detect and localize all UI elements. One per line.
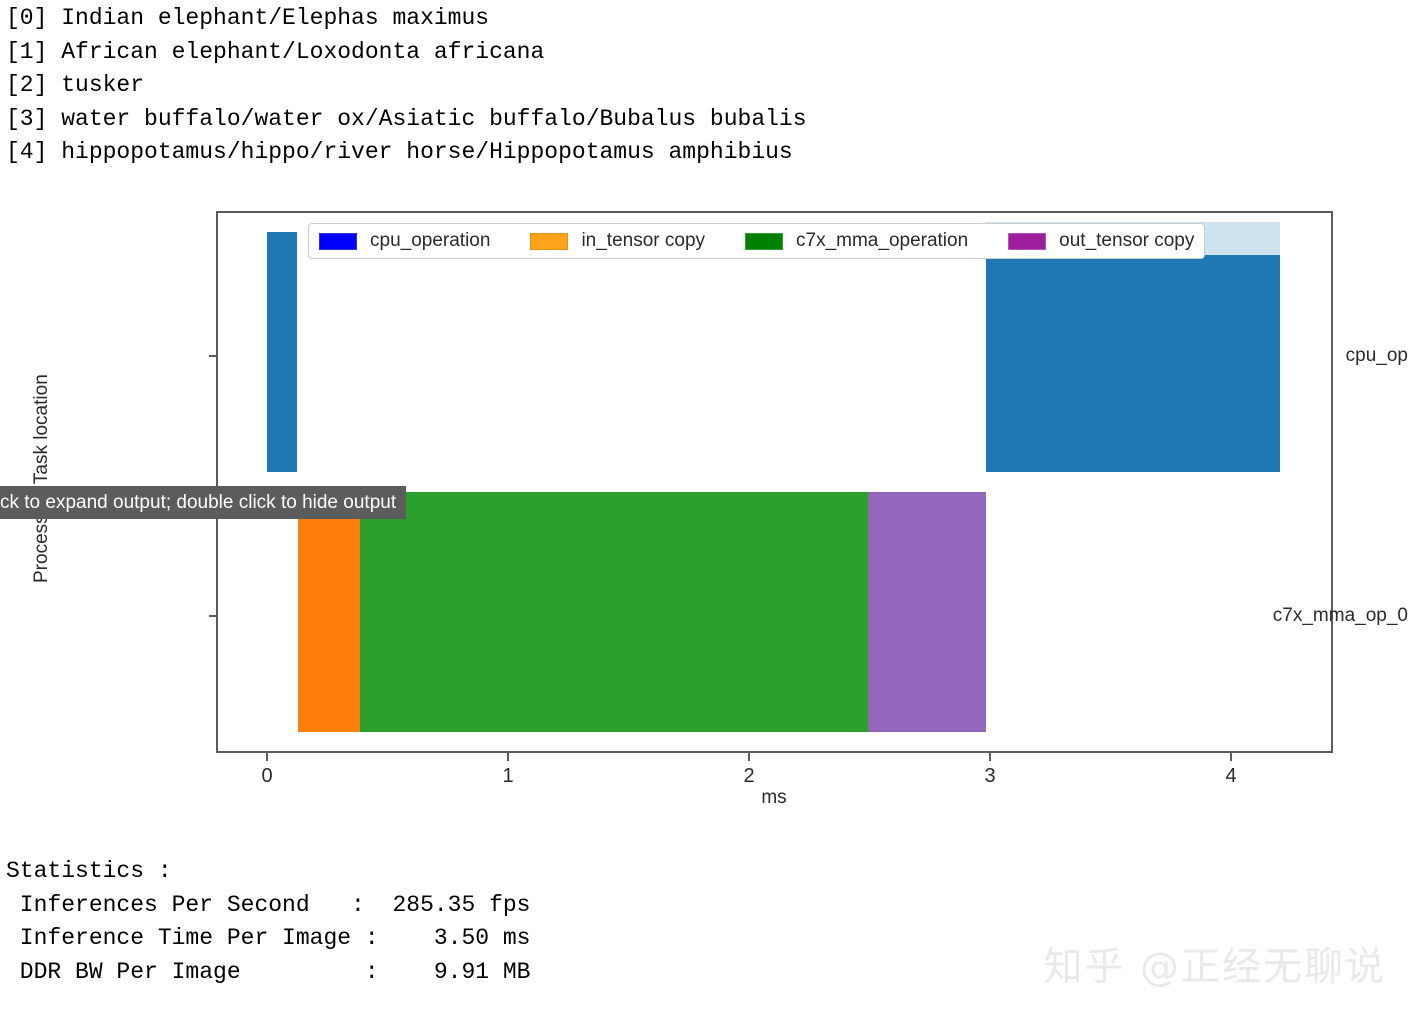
legend-label-c7x-mma-operation: c7x_mma_operation xyxy=(796,230,968,252)
legend-swatch-cpu-operation xyxy=(319,233,357,250)
console-line: [1] African elephant/Loxodonta africana xyxy=(6,36,1206,70)
statistics-row-inference-time-per-image: Inference Time Per Image : 3.50 ms xyxy=(6,922,531,956)
legend-entry-out-tensor-copy[interactable]: out_tensor copy xyxy=(1008,230,1194,252)
y-tick-label-cpu-op: cpu_op xyxy=(1212,345,1408,367)
x-tick-label-2: 2 xyxy=(729,765,769,788)
y-tick-mark-c7x-mma-op-0 xyxy=(209,615,217,617)
gantt-chart-figure: cpu_operation in_tensor copy c7x_mma_ope… xyxy=(0,180,1408,830)
x-tick-mark-2 xyxy=(748,753,750,761)
x-tick-mark-0 xyxy=(266,753,268,761)
legend-label-in-tensor-copy: in_tensor copy xyxy=(581,230,705,252)
statistics-row-ddr-bw-per-image: DDR BW Per Image : 9.91 MB xyxy=(6,956,531,990)
y-axis-label: Processing Task location xyxy=(31,383,53,583)
console-line: [0] Indian elephant/Elephas maximus xyxy=(6,2,1206,36)
bar-out-tensor-copy[interactable] xyxy=(868,492,986,732)
x-tick-label-0: 0 xyxy=(247,765,287,788)
bar-in-tensor-copy[interactable] xyxy=(298,492,360,732)
x-tick-label-1: 1 xyxy=(488,765,528,788)
statistics-heading: Statistics : xyxy=(6,855,531,889)
x-tick-mark-1 xyxy=(507,753,509,761)
x-axis-label: ms xyxy=(0,787,1408,809)
legend-swatch-in-tensor-copy xyxy=(530,233,568,250)
expand-output-tooltip: ck to expand output; double click to hid… xyxy=(0,486,406,519)
bar-c7x-mma-operation[interactable] xyxy=(360,492,868,732)
x-tick-mark-3 xyxy=(989,753,991,761)
bar-cpu-operation-1[interactable] xyxy=(267,232,297,472)
legend-entry-c7x-mma-operation[interactable]: c7x_mma_operation xyxy=(745,230,968,252)
console-line: [4] hippopotamus/hippo/river horse/Hippo… xyxy=(6,136,1206,170)
legend-entry-cpu-operation[interactable]: cpu_operation xyxy=(319,230,490,252)
y-tick-label-c7x-mma-op-0: c7x_mma_op_0 xyxy=(1212,605,1408,627)
legend-swatch-c7x-mma-operation xyxy=(745,233,783,250)
chart-legend[interactable]: cpu_operation in_tensor copy c7x_mma_ope… xyxy=(308,223,1205,259)
console-line: [3] water buffalo/water ox/Asiatic buffa… xyxy=(6,103,1206,137)
legend-entry-in-tensor-copy[interactable]: in_tensor copy xyxy=(530,230,705,252)
x-tick-label-3: 3 xyxy=(970,765,1010,788)
y-tick-mark-cpu-op xyxy=(209,355,217,357)
x-tick-mark-4 xyxy=(1230,753,1232,761)
legend-label-out-tensor-copy: out_tensor copy xyxy=(1059,230,1194,252)
console-line: [2] tusker xyxy=(6,69,1206,103)
statistics-block: Statistics : Inferences Per Second : 285… xyxy=(6,855,531,989)
x-tick-label-4: 4 xyxy=(1211,765,1251,788)
console-output-list[interactable]: [0] Indian elephant/Elephas maximus [1] … xyxy=(6,2,1206,170)
watermark: 知乎 @正经无聊说 xyxy=(1044,936,1386,992)
statistics-row-inferences-per-second: Inferences Per Second : 285.35 fps xyxy=(6,889,531,923)
legend-swatch-out-tensor-copy xyxy=(1008,233,1046,250)
legend-label-cpu-operation: cpu_operation xyxy=(370,230,490,252)
